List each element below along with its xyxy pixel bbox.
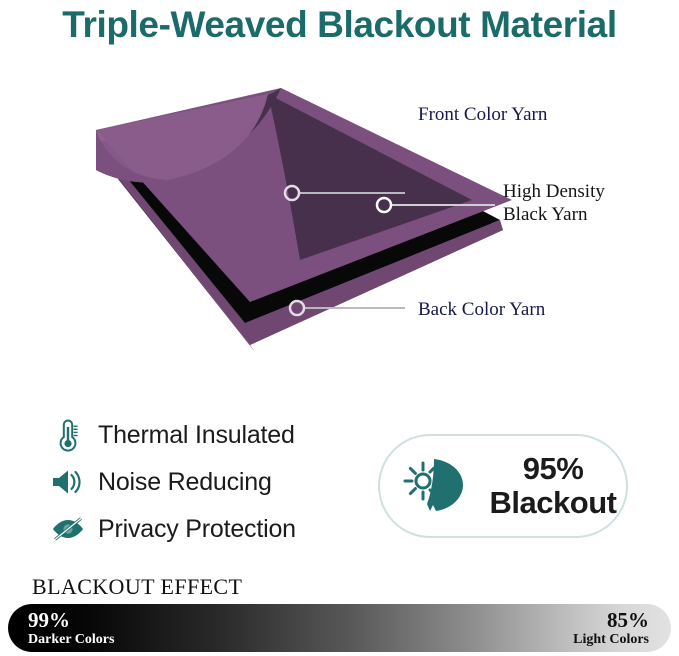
badge-percent: 95%	[523, 451, 584, 486]
page-title: Triple-Weaved Blackout Material	[0, 2, 679, 48]
bar-right-percent: 85%	[573, 609, 649, 631]
badge-word: Blackout	[490, 485, 617, 520]
feature-row-privacy-protection: Privacy Protection	[48, 506, 358, 552]
bar-left-caption: Darker Colors	[28, 631, 114, 648]
callout-label-high-density-black-yarn: High Density Black Yarn	[503, 180, 673, 226]
feature-label-noise-reducing: Noise Reducing	[98, 468, 272, 497]
bar-left-block: 99% Darker Colors	[28, 609, 114, 648]
callout-label-front-color-yarn: Front Color Yarn	[418, 103, 547, 126]
feature-label-privacy-protection: Privacy Protection	[98, 515, 296, 544]
eye-slash-icon	[48, 510, 88, 548]
thermometer-icon	[48, 416, 88, 454]
blackout-percentage-badge: 95% Blackout	[378, 434, 628, 538]
bar-right-caption: Light Colors	[573, 631, 649, 648]
blackout-effect-heading: BLACKOUT EFFECT	[32, 574, 242, 600]
callout-label-line1: High Density	[503, 180, 673, 203]
blackout-effect-gradient-bar: 99% Darker Colors 85% Light Colors	[8, 604, 671, 652]
bar-left-percent: 99%	[28, 609, 114, 631]
sun-behind-curtain-icon	[400, 450, 472, 522]
badge-text-block: 95% Blackout	[480, 452, 626, 520]
feature-list: Thermal Insulated Noise Reducing Privacy…	[48, 412, 358, 553]
bar-right-block: 85% Light Colors	[573, 609, 649, 648]
feature-label-thermal-insulated: Thermal Insulated	[98, 421, 295, 450]
callout-label-line2: Black Yarn	[503, 203, 673, 226]
feature-row-noise-reducing: Noise Reducing	[48, 459, 358, 505]
feature-row-thermal-insulated: Thermal Insulated	[48, 412, 358, 458]
callout-label-back-color-yarn: Back Color Yarn	[418, 298, 545, 321]
speaker-sound-icon	[48, 463, 88, 501]
